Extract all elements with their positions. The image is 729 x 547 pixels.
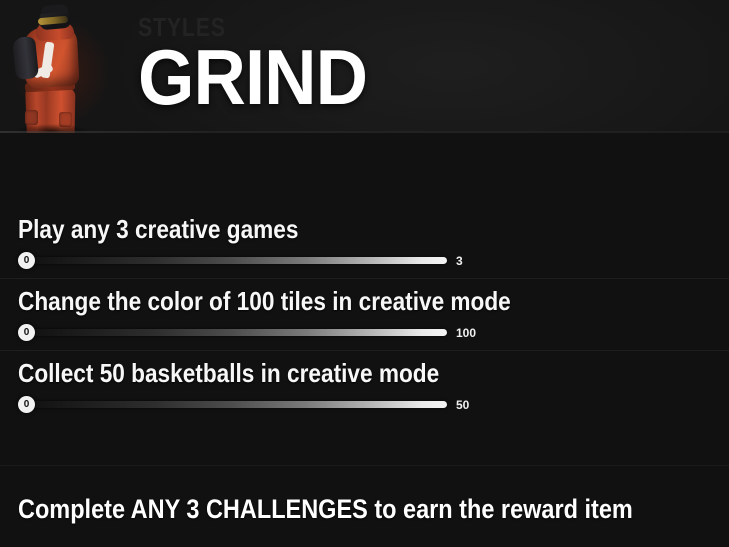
fortnite-character-icon: [0, 0, 122, 133]
challenge-progress-bar: 0 3: [18, 252, 518, 270]
footer-divider: [0, 465, 729, 466]
page-title: GRIND: [138, 42, 529, 114]
progress-track: [30, 401, 447, 408]
reward-instruction-text: Complete ANY 3 CHALLENGES to earn the re…: [18, 493, 633, 525]
challenge-title: Play any 3 creative games: [18, 214, 298, 244]
challenge-progress-bar: 0 50: [18, 396, 518, 414]
progress-track: [30, 257, 447, 264]
challenge-progress-bar: 0 100: [18, 324, 518, 342]
challenge-title: Collect 50 basketballs in creative mode: [18, 358, 439, 388]
challenges-screen: STYLES GRIND Play any 3 creative games 0…: [0, 0, 729, 547]
character-pocket-left: [25, 110, 38, 125]
progress-current-value: 0: [18, 252, 35, 269]
challenge-row[interactable]: Collect 50 basketballs in creative mode …: [0, 351, 729, 423]
progress-goal-value: 50: [456, 397, 469, 413]
list-top-spacer: [0, 133, 729, 207]
progress-goal-value: 100: [456, 325, 476, 341]
progress-goal-value: 3: [456, 253, 463, 269]
header-banner: STYLES GRIND: [0, 0, 729, 133]
progress-current-value: 0: [18, 396, 35, 413]
challenge-row[interactable]: Play any 3 creative games 0 3: [0, 207, 729, 279]
challenge-list: Play any 3 creative games 0 3 Change the…: [0, 133, 729, 547]
progress-current-value: 0: [18, 324, 35, 341]
character-arm: [12, 36, 39, 80]
header-text-group: STYLES GRIND: [138, 14, 558, 114]
challenge-title: Change the color of 100 tiles in creativ…: [18, 286, 511, 316]
challenge-row[interactable]: Change the color of 100 tiles in creativ…: [0, 279, 729, 351]
progress-track: [30, 329, 447, 336]
